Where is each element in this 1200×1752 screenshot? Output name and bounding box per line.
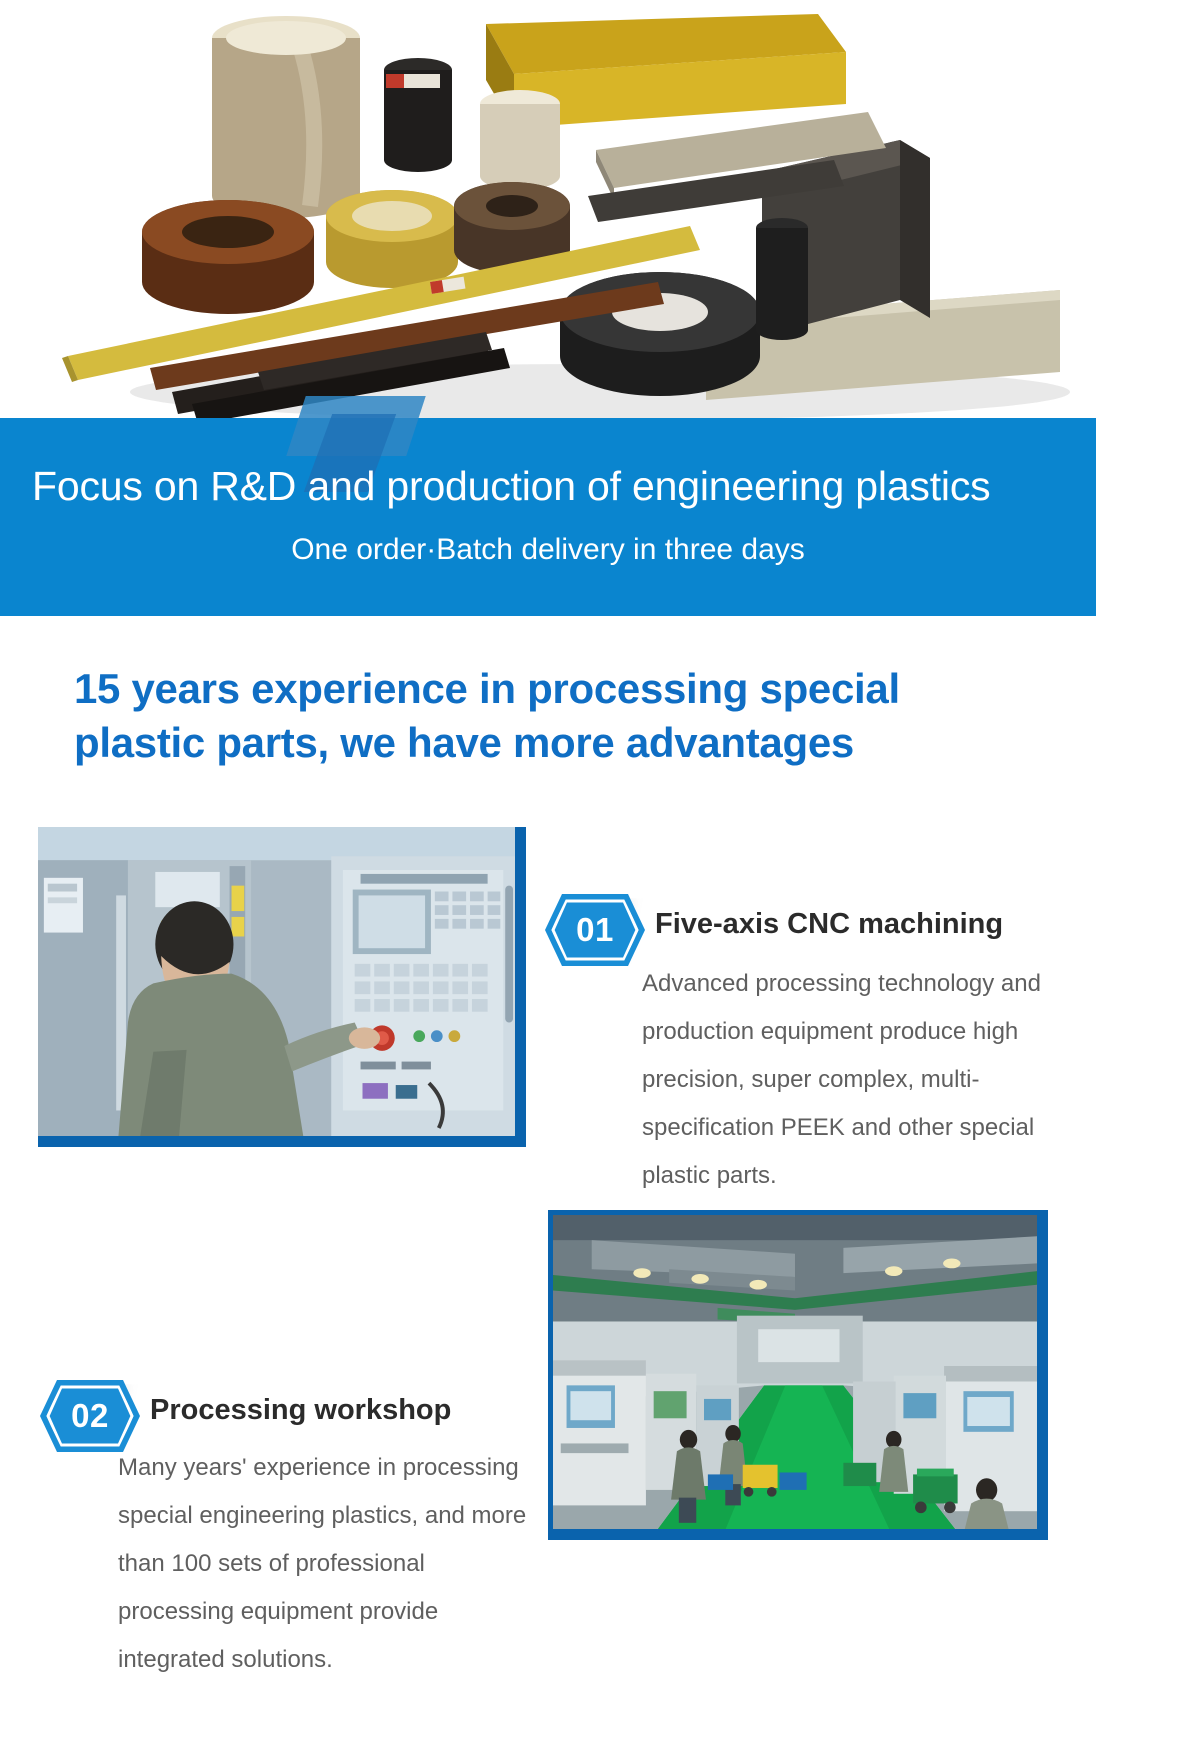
workshop-illustration	[553, 1215, 1037, 1534]
banner-headline: Focus on R&D and production of engineeri…	[32, 463, 1072, 510]
banner-subheadline: One order·Batch delivery in three days	[0, 533, 1096, 567]
feature-02-number: 02	[40, 1380, 140, 1452]
section-headline-line-2: plastic parts, we have more advantages	[74, 716, 1074, 770]
section-headline-line-1: 15 years experience in processing specia…	[74, 662, 1074, 716]
feature-02-image	[548, 1210, 1048, 1540]
promo-banner: Focus on R&D and production of engineeri…	[0, 418, 1096, 616]
feature-01-body: Advanced processing technology and produ…	[642, 960, 1072, 1200]
feature-02-body: Many years' experience in processing spe…	[118, 1444, 538, 1684]
feature-02-title: Processing workshop	[150, 1394, 451, 1427]
hero-product-illustration	[0, 0, 1200, 420]
feature-01-number: 01	[545, 894, 645, 966]
feature-01-title: Five-axis CNC machining	[655, 908, 1003, 941]
feature-01-image	[38, 827, 526, 1147]
hero-product-image	[0, 0, 1200, 420]
feature-02-badge: 02	[40, 1380, 150, 1454]
feature-01-badge: 01	[545, 894, 655, 968]
cnc-operator-illustration	[38, 827, 515, 1140]
section-headline: 15 years experience in processing specia…	[74, 662, 1074, 770]
